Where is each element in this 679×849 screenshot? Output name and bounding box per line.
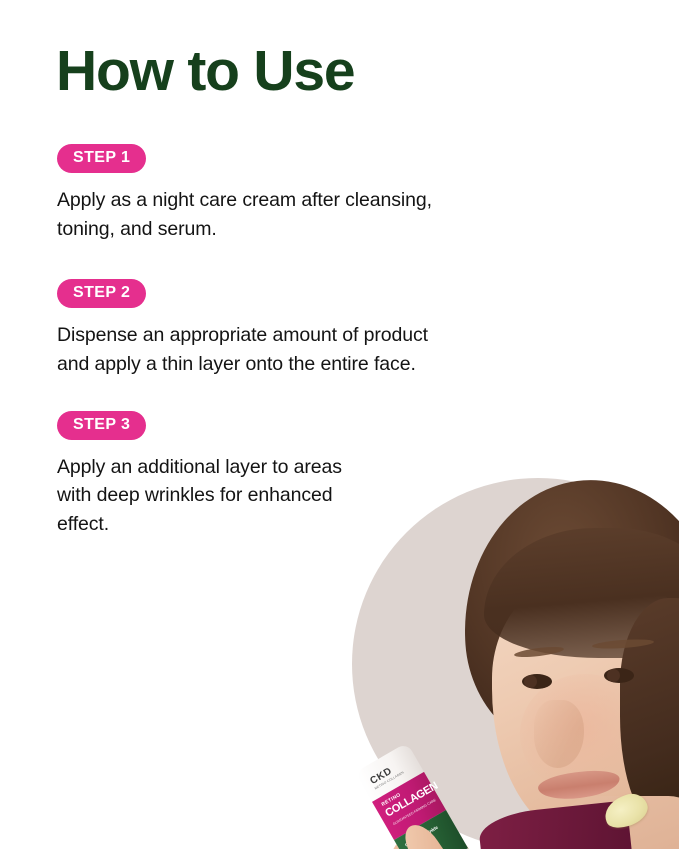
page-title: How to Use [56,42,354,102]
tube-green-band: Collagen Wrinkle 50ml / 1.69 fl.oz [394,810,468,849]
step-item-3: STEP 3 Apply an additional layer to area… [57,411,597,539]
tube-line-1: RETINO [381,792,402,808]
model-neck [562,796,679,849]
step-item-2: STEP 2 Dispense an appropriate amount of… [57,279,597,378]
how-to-use-page: CKD RETINO COLLAGEN RETINO COLLAGEN GUAR… [0,0,679,849]
step-spacer-1 [57,243,597,279]
tube-brand-label: CKD [368,766,394,787]
model-hand [379,819,478,849]
eye-right [604,668,634,683]
steps-list: STEP 1 Apply as a night care cream after… [57,144,597,539]
tube-brand-sub-label: RETINO COLLAGEN [374,770,405,790]
cream-swatch-icon [600,789,652,833]
model-garment [477,800,632,849]
hair-fringe [484,528,679,658]
model-face [492,570,679,838]
step-text-2: Dispense an appropriate amount of produc… [57,321,597,378]
hair-side [620,598,679,830]
tube-body: CKD RETINO COLLAGEN [355,742,472,849]
tube-line-2: COLLAGEN [383,780,440,820]
step-item-1: STEP 1 Apply as a night care cream after… [57,144,597,243]
step-spacer-2 [57,379,597,411]
model-thumb [397,818,452,849]
step-text-1: Apply as a night care cream after cleans… [57,186,597,243]
step-text-3: Apply an additional layer to areas with … [57,453,597,539]
product-tube: CKD RETINO COLLAGEN RETINO COLLAGEN GUAR… [355,742,472,849]
step-badge-1: STEP 1 [57,144,146,173]
model-cheek [520,674,650,794]
tube-line-3: GUARANTEED FIRMING CARE [392,798,437,826]
eyebrow-right [592,638,654,650]
eye-left [522,674,552,689]
iris-left [524,675,537,688]
step-badge-2: STEP 2 [57,279,146,308]
model-lips [537,767,622,803]
step-badge-3: STEP 3 [57,411,146,440]
tube-green-line-1: Collagen Wrinkle [404,825,439,848]
tube-pink-band: RETINO COLLAGEN GUARANTEED FIRMING CARE [372,772,446,840]
eyebrow-left [514,645,565,659]
model-nose [534,700,584,768]
iris-right [607,669,620,682]
